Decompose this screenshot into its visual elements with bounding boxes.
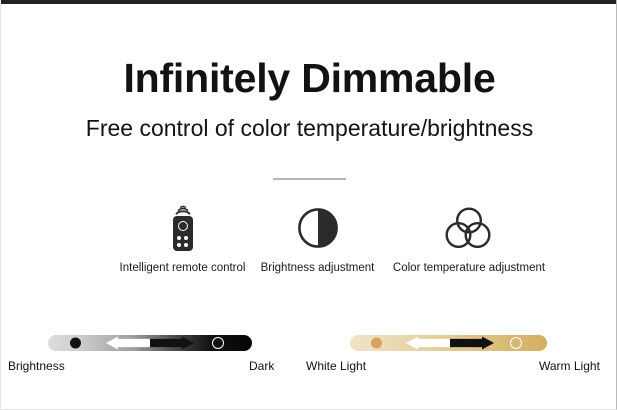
feature-label: Intelligent remote control (111, 262, 254, 275)
feature-label: Color temperature adjustment (389, 262, 549, 275)
remote-control-icon (111, 203, 254, 253)
color-temperature-circles-icon (389, 203, 549, 253)
remote-key (184, 236, 188, 240)
color-temperature-slider-track[interactable] (350, 335, 547, 351)
color-temperature-slider-right-label: Warm Light (539, 360, 600, 372)
remote-key (184, 243, 188, 247)
signal-waves-icon (170, 205, 196, 216)
remote-key (177, 243, 181, 247)
title-divider (273, 178, 346, 180)
brightness-slider-track[interactable] (48, 335, 252, 351)
feature-color-temperature-adjustment: Color temperature adjustment (389, 203, 549, 275)
remote-power-ring-icon (178, 221, 188, 231)
feature-intelligent-remote-control: Intelligent remote control (111, 203, 254, 275)
brightness-slider-right-label: Dark (249, 360, 274, 372)
feature-row: Intelligent remote control Brightness ad… (1, 203, 617, 288)
remote-body (173, 216, 193, 251)
top-accent-bar (1, 0, 617, 4)
color-temperature-slider-knob-right[interactable] (510, 337, 522, 349)
feature-brightness-adjustment: Brightness adjustment (256, 203, 379, 275)
page-title: Infinitely Dimmable (1, 57, 617, 100)
brightness-contrast-icon (256, 203, 379, 253)
brightness-slider-knob-right[interactable] (212, 337, 224, 349)
page-subtitle: Free control of color temperature/bright… (1, 115, 617, 143)
remote-keypad (177, 236, 188, 247)
feature-label: Brightness adjustment (256, 262, 379, 275)
brightness-slider-left-label: Brightness (8, 360, 65, 372)
brightness-direction-arrows (106, 337, 194, 350)
color-temperature-slider-left-label: White Light (306, 360, 366, 372)
color-temperature-direction-arrows (406, 337, 494, 350)
brightness-slider-knob-left[interactable] (70, 338, 81, 349)
product-feature-banner: Infinitely Dimmable Free control of colo… (0, 0, 617, 410)
color-temperature-slider-knob-left[interactable] (371, 338, 382, 349)
remote-key (177, 236, 181, 240)
